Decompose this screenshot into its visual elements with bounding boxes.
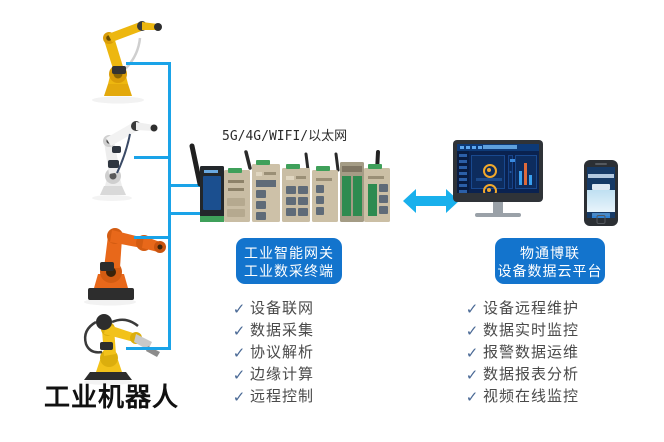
feature-label: 边缘计算 xyxy=(250,365,314,386)
gateway-caption-line2: 工业数采终端 xyxy=(236,262,342,280)
feature-label: 设备远程维护 xyxy=(483,299,579,320)
list-item: ✓ 数据实时监控 xyxy=(461,321,579,342)
bracket-branch-3 xyxy=(134,236,171,239)
gateway-feature-list: ✓ 设备联网 ✓ 数据采集 ✓ 协议解析 ✓ 边缘计算 ✓ 远程控制 xyxy=(228,299,314,409)
bracket-branch-4 xyxy=(126,347,171,350)
feature-label: 数据采集 xyxy=(250,321,314,342)
page-title: 工业机器人 xyxy=(44,377,179,414)
dashboard-logo-icon xyxy=(460,146,482,149)
check-icon: ✓ xyxy=(228,343,250,364)
robot-arm-orange-articulated xyxy=(66,216,170,306)
cloud-feature-list: ✓ 设备远程维护 ✓ 数据实时监控 ✓ 报警数据运维 ✓ 数据报表分析 ✓ 视频… xyxy=(461,299,579,409)
feature-label: 数据实时监控 xyxy=(483,321,579,342)
phone-speaker xyxy=(595,163,607,165)
list-item: ✓ 报警数据运维 xyxy=(461,343,579,364)
dashboard-gauge-panel xyxy=(471,155,505,189)
check-icon: ✓ xyxy=(461,365,483,386)
gateway-caption-line1: 工业智能网关 xyxy=(236,244,342,262)
check-icon: ✓ xyxy=(228,321,250,342)
phone-login-screen xyxy=(587,167,615,218)
check-icon: ✓ xyxy=(228,365,250,386)
feature-label: 视频在线监控 xyxy=(483,387,579,408)
feature-label: 协议解析 xyxy=(250,343,314,364)
check-icon: ✓ xyxy=(461,343,483,364)
feature-label: 报警数据运维 xyxy=(483,343,579,364)
robot-arm-yellow-articulated xyxy=(70,18,166,104)
list-item: ✓ 边缘计算 xyxy=(228,365,314,386)
cloud-platform-monitor xyxy=(453,140,543,202)
dashboard-title-bar xyxy=(483,145,517,149)
feature-label: 远程控制 xyxy=(250,387,314,408)
bracket-branch-2 xyxy=(134,156,171,159)
gauge-ring-1 xyxy=(483,164,497,178)
dashboard-sidebar xyxy=(457,151,469,193)
phone-wave-graphic xyxy=(587,190,615,212)
dashboard-topbar xyxy=(457,144,539,151)
check-icon: ✓ xyxy=(461,387,483,408)
robot-arm-white-articulated xyxy=(78,116,162,202)
mobile-app-phone xyxy=(584,160,618,226)
list-item: ✓ 数据报表分析 xyxy=(461,365,579,386)
list-item: ✓ 远程控制 xyxy=(228,387,314,408)
bracket-spine xyxy=(168,62,171,350)
check-icon: ✓ xyxy=(228,299,250,320)
cloud-caption-line2: 设备数据云平台 xyxy=(495,262,605,280)
list-item: ✓ 协议解析 xyxy=(228,343,314,364)
monitor-base xyxy=(475,213,521,217)
bracket-branch-1 xyxy=(126,62,171,65)
cloud-caption-line1: 物通博联 xyxy=(495,244,605,262)
check-icon: ✓ xyxy=(461,299,483,320)
double-arrow-icon xyxy=(403,186,459,221)
list-item: ✓ 视频在线监控 xyxy=(461,387,579,408)
gauge-ring-2 xyxy=(483,184,497,193)
list-item: ✓ 设备联网 xyxy=(228,299,314,320)
list-item: ✓ 数据采集 xyxy=(228,321,314,342)
feature-label: 设备联网 xyxy=(250,299,314,320)
check-icon: ✓ xyxy=(228,387,250,408)
dashboard-chart-panel xyxy=(515,155,537,189)
phone-home-button[interactable] xyxy=(597,215,606,224)
phone-app-title xyxy=(588,174,614,178)
gateway-device-rack xyxy=(186,140,396,231)
dashboard-china-map xyxy=(508,155,513,189)
cloud-caption-box: 物通博联 设备数据云平台 xyxy=(495,238,605,284)
diagram-canvas: 5G/4G/WIFI/以太网 xyxy=(0,0,664,442)
feature-label: 数据报表分析 xyxy=(483,365,579,386)
list-item: ✓ 设备远程维护 xyxy=(461,299,579,320)
check-icon: ✓ xyxy=(461,321,483,342)
dashboard-screen xyxy=(457,144,539,193)
gateway-caption-box: 工业智能网关 工业数采终端 xyxy=(236,238,342,284)
